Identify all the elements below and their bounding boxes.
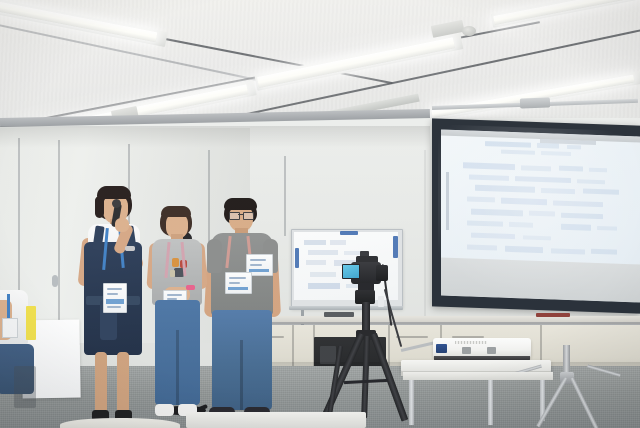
whiteboard-block — [304, 240, 326, 245]
whiteboard-magnet-left — [295, 248, 299, 268]
counter-item-red — [536, 313, 570, 317]
tshirt-graphic-print — [170, 258, 189, 280]
slide-block — [467, 220, 503, 226]
slide-block — [551, 248, 585, 254]
slide-block — [521, 165, 551, 171]
slide-block — [463, 162, 515, 170]
p3-hair-fringe — [224, 198, 257, 210]
slide-block — [567, 145, 581, 149]
microphone-head — [112, 199, 121, 208]
slide-block — [583, 188, 619, 194]
slide-block — [577, 179, 605, 184]
whiteboard-magnet-right — [393, 236, 398, 258]
slide-block — [467, 244, 497, 250]
foreground-table-center — [186, 412, 366, 428]
wall-seam-6 — [424, 150, 426, 320]
whiteboard-block — [330, 240, 346, 245]
projector-vent — [455, 341, 487, 344]
slide-block — [591, 249, 617, 255]
slide-block — [529, 211, 555, 217]
slide-block — [485, 141, 531, 148]
slide-block — [505, 246, 543, 253]
foreground-table-right — [403, 372, 553, 380]
screen-stand-column — [563, 345, 570, 375]
whiteboard-magnet-top — [340, 231, 358, 235]
slide-block — [501, 150, 535, 155]
slide-block — [515, 176, 571, 183]
projector-port-vga — [487, 347, 496, 354]
p2-hair-fringe — [161, 206, 191, 217]
slide-block — [561, 213, 603, 219]
camera-lens — [376, 265, 388, 281]
tripod-label-tag — [378, 296, 384, 307]
screen-lower-band — [441, 258, 640, 303]
p3-name-badge-lower — [225, 272, 252, 294]
photo-canvas — [0, 0, 640, 428]
p1-wristwatch — [125, 246, 135, 251]
camera-lcd-screen[interactable] — [342, 264, 360, 279]
chair — [14, 366, 36, 408]
slide-block — [475, 185, 535, 193]
projector-table-leg — [488, 375, 493, 425]
whiteboard-block — [306, 260, 326, 265]
slide-block — [471, 233, 515, 240]
slide-block — [541, 188, 575, 194]
counter-item-dark — [324, 312, 354, 317]
projection-screen-surface — [441, 130, 640, 303]
slide-block — [523, 235, 551, 240]
whiteboard-block — [308, 250, 338, 255]
whiteboard-block — [310, 272, 336, 277]
wall-seam-2 — [58, 140, 60, 325]
cabinet-handle[interactable] — [396, 336, 428, 338]
p3-jeans-seam — [240, 340, 243, 410]
p1-leg-left — [95, 352, 107, 414]
p1-hand — [115, 218, 129, 232]
whiteboard-pen-tray — [289, 306, 403, 310]
slide-block — [589, 168, 607, 173]
slide-block — [559, 166, 583, 172]
p3-sleeve-left — [207, 239, 222, 273]
slide-block — [469, 175, 509, 181]
projector-lens — [436, 344, 447, 353]
smoke-detector — [462, 26, 476, 36]
p2-bracelet — [186, 285, 195, 290]
slide-content-pixelated — [441, 136, 640, 265]
slide-block — [537, 143, 559, 149]
p2-sneaker-left — [155, 404, 174, 416]
projector-port-hdmi — [462, 347, 471, 354]
yellow-item — [26, 306, 36, 340]
slide-block — [509, 222, 533, 228]
slide-sidebar-accent — [446, 172, 449, 230]
slide-block — [501, 198, 547, 206]
p1-hair-side — [95, 196, 104, 218]
foreground-object — [60, 418, 180, 428]
seated-person-badge — [2, 318, 18, 338]
p1-leg-right — [117, 352, 129, 414]
slide-block — [471, 209, 523, 217]
projector-table-leg — [409, 375, 414, 425]
glasses-icon — [229, 212, 253, 218]
slide-block — [553, 200, 603, 207]
slide-block — [541, 151, 571, 156]
slide-block — [467, 196, 495, 202]
screen-ceiling-mount — [520, 97, 550, 108]
p2-jeans-seam — [176, 330, 179, 405]
wall-seam-5 — [284, 156, 286, 236]
slide-block — [597, 226, 617, 231]
door-handle — [52, 275, 58, 287]
slide-block — [561, 224, 591, 231]
whiteboard-block — [308, 283, 340, 289]
wall-top-shadow — [0, 126, 430, 148]
p1-name-badge — [103, 283, 127, 313]
